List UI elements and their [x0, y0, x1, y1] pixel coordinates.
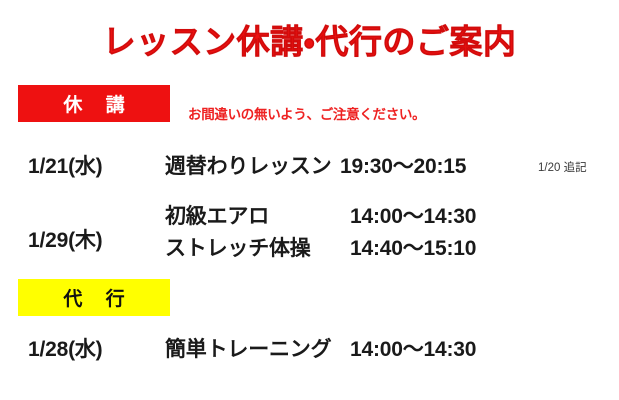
notice-page: レッスン休講・代行のご案内 休 講 お間違いの無いよう、ご注意ください。 1/2… — [0, 0, 619, 400]
class-name: ストレッチ体操 — [165, 232, 311, 262]
class-name: 週替わりレッスン — [165, 150, 331, 180]
section-badge-substitution: 代 行 — [18, 279, 170, 316]
row-date: 1/29(木) — [28, 224, 102, 254]
class-name: 簡単トレーニング — [165, 333, 331, 363]
caution-text: お間違いの無いよう、ご注意ください。 — [188, 103, 425, 123]
page-title: レッスン休講・代行のご案内 — [0, 22, 619, 62]
row-date: 1/28(水) — [28, 333, 102, 363]
row-date: 1/21(水) — [28, 150, 102, 180]
class-time: 14:00〜14:30 — [350, 333, 476, 363]
section-badge-cancellation: 休 講 — [18, 85, 170, 122]
addendum-note: 1/20 追記 — [538, 159, 587, 175]
class-name: 初級エアロ — [165, 200, 269, 230]
class-time: 14:00〜14:30 — [350, 200, 476, 230]
class-time: 14:40〜15:10 — [350, 232, 476, 262]
class-time: 19:30〜20:15 — [340, 150, 466, 180]
